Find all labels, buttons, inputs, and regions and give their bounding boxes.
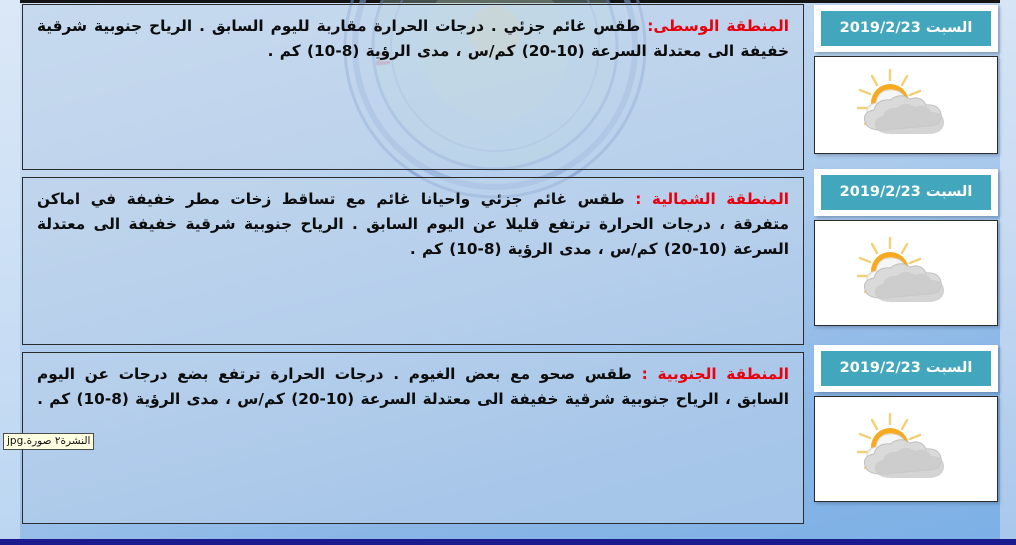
date-badge-southern: السبت 2019/2/23 — [821, 351, 991, 386]
forecast-panel-northern: المنطقة الشمالية : طقس غائم جزئي واحيانا… — [22, 177, 804, 345]
date-badge-central: السبت 2019/2/23 — [821, 11, 991, 46]
sun-behind-cloud-icon — [850, 410, 962, 488]
forecast-panels: المنطقة الوسطى: طقس غائم جزئي . درجات ال… — [22, 4, 804, 531]
sun-behind-cloud-icon — [850, 66, 962, 144]
forecast-panel-central: المنطقة الوسطى: طقس غائم جزئي . درجات ال… — [22, 4, 804, 170]
weather-card-southern: السبت 2019/2/23 — [814, 345, 998, 502]
region-heading-southern: المنطقة الجنوبية : — [642, 365, 789, 383]
date-badge-wrapper-northern: السبت 2019/2/23 — [814, 169, 998, 216]
weather-card-central: السبت 2019/2/23 — [814, 5, 998, 154]
region-heading-northern: المنطقة الشمالية : — [635, 190, 789, 208]
region-heading-central: المنطقة الوسطى: — [647, 17, 789, 35]
left-margin-strip — [0, 0, 20, 539]
bulletin-page: METEOROLOGICAL ORGANIZATION & المنطقة ال… — [0, 0, 1016, 545]
weather-icon-box-northern — [814, 220, 998, 326]
date-and-icon-cards: السبت 2019/2/23 — [814, 5, 998, 510]
sun-behind-cloud-icon — [850, 234, 962, 312]
forecast-panel-southern: المنطقة الجنوبية : طقس صحو مع بعض الغيوم… — [22, 352, 804, 524]
file-name-tooltip: النشرة٢ صورة.jpg — [3, 433, 94, 450]
date-badge-wrapper-southern: السبت 2019/2/23 — [814, 345, 998, 392]
top-divider-rule — [20, 0, 1000, 3]
forecast-text-central: المنطقة الوسطى: طقس غائم جزئي . درجات ال… — [37, 14, 789, 64]
weather-card-northern: السبت 2019/2/23 — [814, 169, 998, 326]
weather-icon-box-central — [814, 56, 998, 154]
forecast-text-northern: المنطقة الشمالية : طقس غائم جزئي واحيانا… — [37, 187, 789, 261]
forecast-text-southern: المنطقة الجنوبية : طقس صحو مع بعض الغيوم… — [37, 362, 789, 412]
right-margin-strip — [1000, 0, 1016, 539]
date-badge-northern: السبت 2019/2/23 — [821, 175, 991, 210]
weather-icon-box-southern — [814, 396, 998, 502]
date-badge-wrapper-central: السبت 2019/2/23 — [814, 5, 998, 52]
